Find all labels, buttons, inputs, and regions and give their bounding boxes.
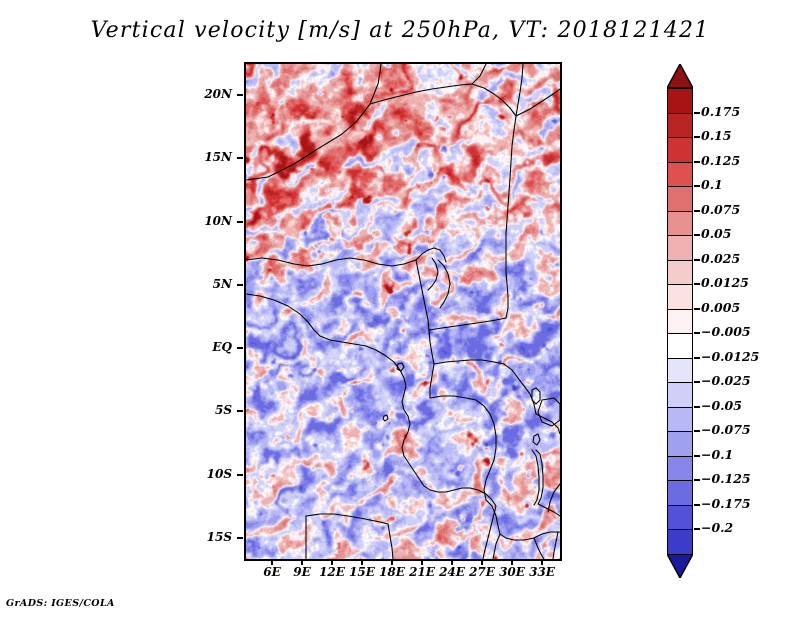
colorbar-label: 0.025 (701, 251, 740, 266)
y-axis-tick (237, 284, 243, 286)
colorbar-block (667, 260, 693, 286)
x-axis-tick (331, 559, 333, 565)
x-axis-tick (271, 559, 273, 565)
colorbar-block (667, 162, 693, 188)
x-axis-tick (421, 559, 423, 565)
y-axis-tick (237, 474, 243, 476)
colorbar-block (667, 186, 693, 212)
y-axis-tick (237, 221, 243, 223)
colorbar-tick (694, 210, 700, 212)
colorbar-label: 0.075 (701, 202, 740, 217)
x-axis-tick (481, 559, 483, 565)
y-axis-tick (237, 410, 243, 412)
colorbar-tick (694, 234, 700, 236)
colorbar-label: −0.125 (701, 471, 751, 486)
colorbar-top-arrow (667, 64, 693, 88)
y-axis-tick (237, 347, 243, 349)
colorbar-tick (694, 455, 700, 457)
attribution-footer: GrADS: IGES/COLA (6, 598, 115, 609)
colorbar-tick (694, 332, 700, 334)
y-axis-label-20n: 20N (190, 87, 232, 101)
x-axis-tick (541, 559, 543, 565)
grads-plot-window: Vertical velocity [m/s] at 250hPa, VT: 2… (0, 0, 800, 618)
colorbar-block (667, 480, 693, 506)
coastline-and-border-overlay (246, 64, 560, 559)
colorbar-tick (694, 357, 700, 359)
y-axis-tick (237, 537, 243, 539)
colorbar-label: −0.1 (701, 447, 733, 462)
colorbar-label: −0.2 (701, 520, 733, 535)
colorbar-label: −0.025 (701, 373, 751, 388)
colorbar-tick (694, 479, 700, 481)
colorbar[interactable]: 0.1750.150.1250.10.0750.050.0250.01250.0… (667, 62, 797, 562)
colorbar-label: 0.125 (701, 153, 740, 168)
colorbar-label: 0.15 (701, 128, 731, 143)
colorbar-block (667, 505, 693, 531)
colorbar-block (667, 113, 693, 139)
colorbar-block (667, 431, 693, 457)
colorbar-label: 0.05 (701, 226, 731, 241)
colorbar-tick (694, 308, 700, 310)
y-axis-label-5n: 5N (190, 277, 232, 291)
x-axis-tick (451, 559, 453, 565)
colorbar-label: −0.05 (701, 398, 742, 413)
y-axis-label-15s: 15S (190, 530, 232, 544)
colorbar-block (667, 529, 693, 555)
y-axis-label-15n: 15N (190, 150, 232, 164)
colorbar-block (667, 358, 693, 384)
colorbar-bottom-arrow (667, 554, 693, 578)
colorbar-tick (694, 185, 700, 187)
colorbar-block (667, 407, 693, 433)
colorbar-tick (694, 259, 700, 261)
colorbar-tick (694, 504, 700, 506)
colorbar-label: −0.175 (701, 496, 751, 511)
x-axis-tick (361, 559, 363, 565)
colorbar-tick (694, 161, 700, 163)
y-axis-tick (237, 94, 243, 96)
colorbar-tick (694, 112, 700, 114)
x-axis-tick (511, 559, 513, 565)
y-axis-label-10s: 10S (190, 467, 232, 481)
colorbar-tick (694, 381, 700, 383)
colorbar-block (667, 211, 693, 237)
y-axis-label-10n: 10N (190, 214, 232, 228)
colorbar-tick (694, 528, 700, 530)
y-axis-label-eq: EQ (190, 340, 232, 354)
x-axis-tick (391, 559, 393, 565)
colorbar-label: 0.0125 (701, 275, 749, 290)
colorbar-tick (694, 406, 700, 408)
colorbar-label: −0.075 (701, 422, 751, 437)
x-axis-tick (301, 559, 303, 565)
colorbar-label: 0.005 (701, 300, 740, 315)
map-plot-area[interactable] (244, 62, 562, 561)
x-axis-label-33e: 33E (522, 565, 562, 579)
colorbar-label: 0.1 (701, 177, 723, 192)
colorbar-block (667, 284, 693, 310)
colorbar-block (667, 137, 693, 163)
colorbar-tick (694, 430, 700, 432)
colorbar-block (667, 333, 693, 359)
colorbar-label: −0.0125 (701, 349, 759, 364)
colorbar-label: 0.175 (701, 104, 740, 119)
page-title: Vertical velocity [m/s] at 250hPa, VT: 2… (0, 18, 800, 43)
colorbar-block (667, 235, 693, 261)
colorbar-block (667, 88, 693, 114)
colorbar-block (667, 456, 693, 482)
y-axis-label-5s: 5S (190, 403, 232, 417)
y-axis-tick (237, 157, 243, 159)
colorbar-label: −0.005 (701, 324, 751, 339)
colorbar-block (667, 382, 693, 408)
colorbar-tick (694, 136, 700, 138)
colorbar-tick (694, 283, 700, 285)
colorbar-block (667, 309, 693, 335)
